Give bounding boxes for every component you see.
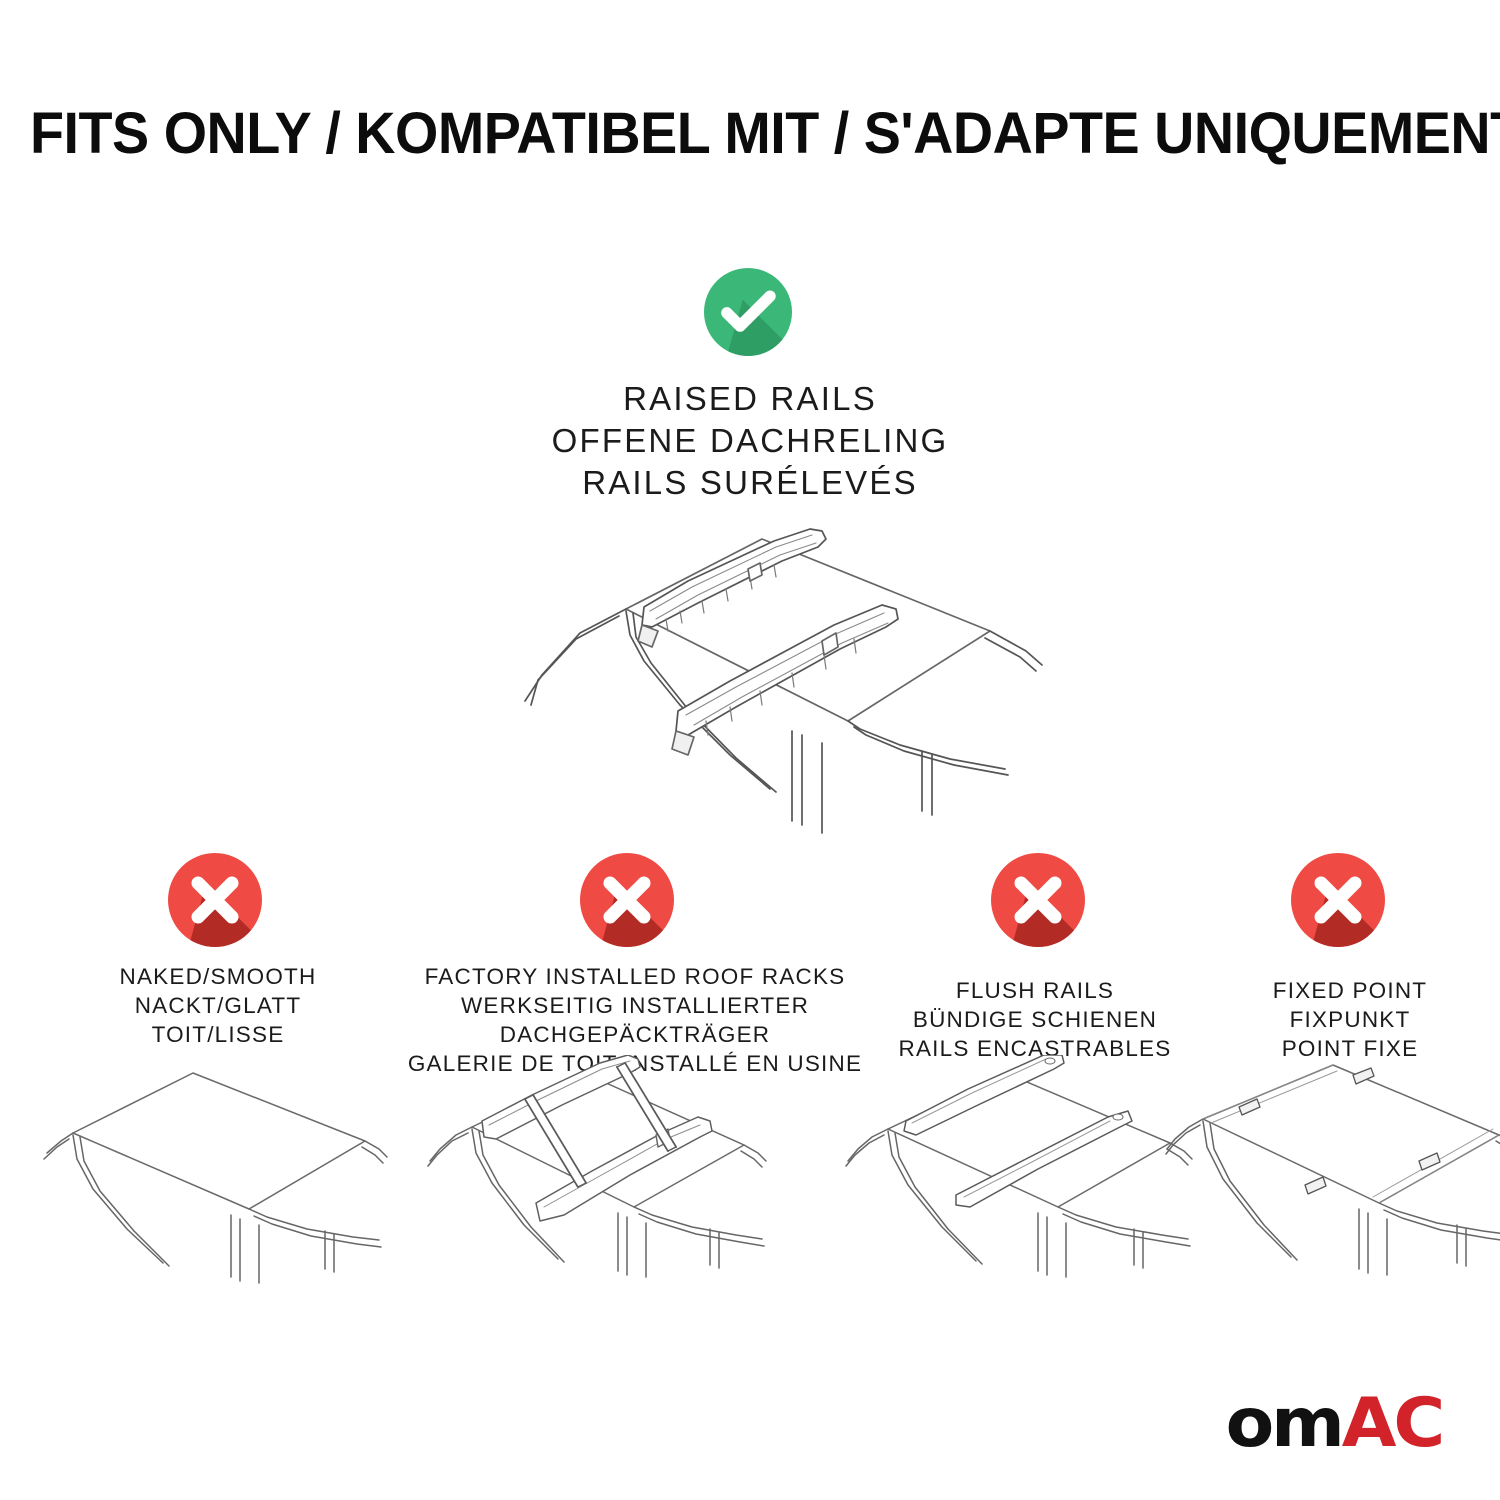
logo-text-ac: AC <box>1342 1384 1442 1463</box>
omac-logo: omAC <box>1226 1390 1442 1458</box>
compatible-label-en: RAISED RAILS <box>420 378 1080 420</box>
car-roof-with-raised-rails-illustration <box>430 515 1080 845</box>
label-en: FIXED POINT <box>1205 976 1495 1005</box>
compatible-caption: RAISED RAILS OFFENE DACHRELING RAILS SUR… <box>420 378 1080 504</box>
cross-glyph <box>991 853 1085 947</box>
incompatible-caption-flush-rails: FLUSH RAILS BÜNDIGE SCHIENEN RAILS ENCAS… <box>865 976 1205 1063</box>
label-fr: TOIT/LISSE <box>28 1020 408 1049</box>
cross-glyph <box>1291 853 1385 947</box>
compatible-label-fr: RAILS SURÉLEVÉS <box>420 462 1080 504</box>
label-de2: DACHGEPÄCKTRÄGER <box>400 1020 870 1049</box>
car-roof-bare-illustration <box>35 1055 405 1290</box>
label-de1: WERKSEITIG INSTALLIERTER <box>400 991 870 1020</box>
car-roof-with-crossbars-illustration <box>412 1055 782 1290</box>
logo-text-om: om <box>1226 1384 1342 1463</box>
cross-mark-icon <box>580 853 674 947</box>
page-title: FITS ONLY / KOMPATIBEL MIT / S'ADAPTE UN… <box>30 104 1470 165</box>
label-en: NAKED/SMOOTH <box>28 962 408 991</box>
label-en: FLUSH RAILS <box>865 976 1205 1005</box>
cross-glyph <box>580 853 674 947</box>
label-de: BÜNDIGE SCHIENEN <box>865 1005 1205 1034</box>
car-roof-with-flush-rails-illustration <box>840 1055 1210 1290</box>
cross-mark-icon <box>991 853 1085 947</box>
check-glyph <box>704 268 792 356</box>
label-de: FIXPUNKT <box>1205 1005 1495 1034</box>
cross-glyph <box>168 853 262 947</box>
compatible-label-de: OFFENE DACHRELING <box>420 420 1080 462</box>
check-mark-icon <box>704 268 792 356</box>
infographic-page: FITS ONLY / KOMPATIBEL MIT / S'ADAPTE UN… <box>0 0 1500 1500</box>
cross-mark-icon <box>1291 853 1385 947</box>
label-de: NACKT/GLATT <box>28 991 408 1020</box>
label-en: FACTORY INSTALLED ROOF RACKS <box>400 962 870 991</box>
incompatible-caption-fixed-point: FIXED POINT FIXPUNKT POINT FIXE <box>1205 976 1495 1063</box>
car-roof-with-fixed-points-illustration <box>1165 1055 1500 1290</box>
incompatible-caption-naked-smooth: NAKED/SMOOTH NACKT/GLATT TOIT/LISSE <box>28 962 408 1049</box>
cross-mark-icon <box>168 853 262 947</box>
